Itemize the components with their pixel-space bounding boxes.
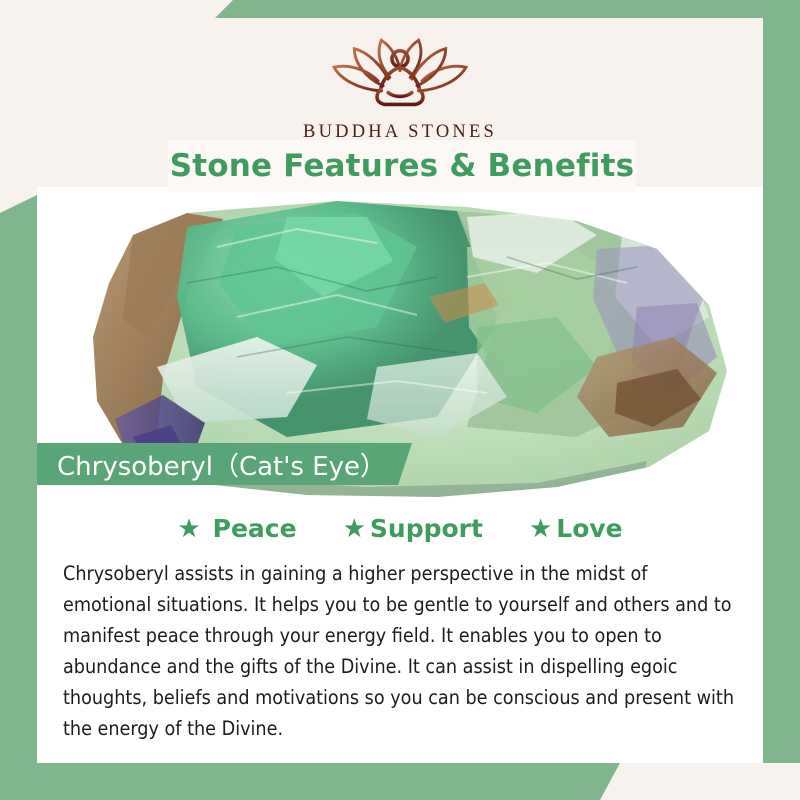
frame-band-bottom	[0, 763, 620, 800]
star-icon: ★	[529, 516, 552, 542]
stone-photo: Chrysoberyl（Cat's Eye）	[37, 187, 763, 509]
frame-band-right	[763, 0, 800, 800]
frame-band-top	[215, 0, 800, 18]
lotus-meditation-icon	[315, 30, 485, 118]
frame-corner-filler	[763, 763, 800, 800]
benefit-item-support: ★ Support	[343, 514, 483, 543]
benefits-row: ★ Peace ★ Support ★ Love	[37, 514, 763, 543]
star-icon: ★	[343, 516, 366, 542]
stone-name-text: Chrysoberyl（Cat's Eye）	[57, 446, 386, 483]
brand-logo: BUDDHA STONES	[37, 30, 763, 143]
star-icon: ★	[177, 516, 200, 542]
poster-page: BUDDHA STONES Stone Features & Benefits	[0, 0, 800, 800]
frame-band-left	[0, 195, 37, 800]
benefit-item-peace: ★ Peace	[177, 514, 296, 543]
benefit-label: Peace	[213, 514, 297, 543]
benefit-item-love: ★ Love	[529, 514, 623, 543]
page-title: Stone Features & Benefits	[170, 148, 635, 184]
content-card: BUDDHA STONES Stone Features & Benefits	[37, 18, 763, 763]
stone-name-label: Chrysoberyl（Cat's Eye）	[37, 443, 412, 485]
stone-description: Chrysoberyl assists in gaining a higher …	[37, 558, 763, 744]
benefit-label: Love	[556, 514, 622, 543]
benefit-label: Support	[370, 514, 483, 543]
title-banner: Stone Features & Benefits	[168, 140, 636, 192]
